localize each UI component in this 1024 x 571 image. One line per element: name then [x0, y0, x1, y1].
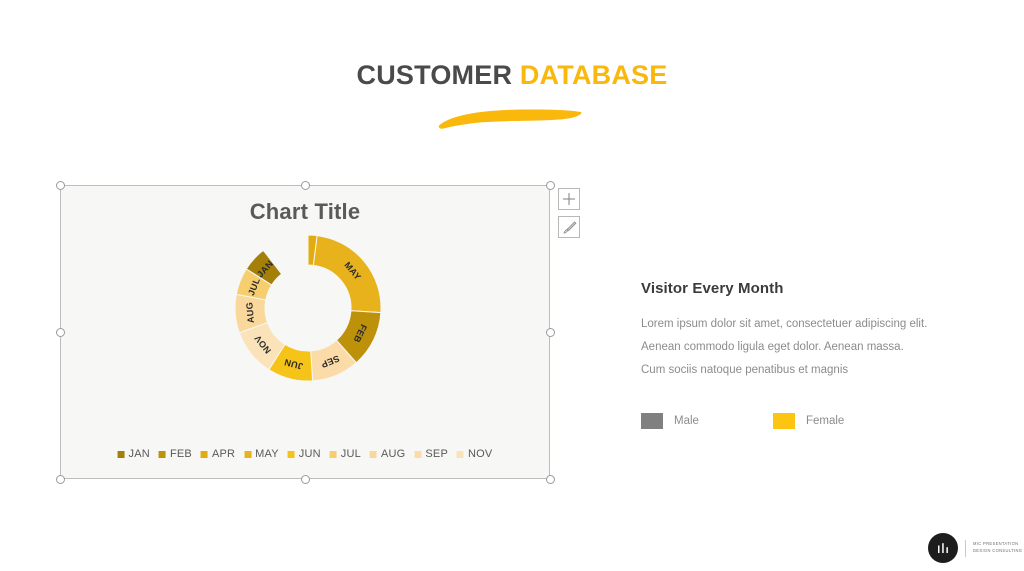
legend-swatch-icon [244, 451, 251, 458]
chart-legend-item-jan[interactable]: JAN [118, 448, 150, 460]
chart-legend-label: MAY [255, 448, 279, 460]
gender-legend-item-male: Male [641, 413, 699, 429]
selection-handle-bottom-center[interactable] [301, 475, 310, 484]
legend-swatch-icon [370, 451, 377, 458]
chart-legend-item-jun[interactable]: JUN [288, 448, 321, 460]
legend-swatch-icon [201, 451, 208, 458]
chart-legend-label: FEB [170, 448, 192, 460]
gender-legend: MaleFemale [641, 413, 931, 429]
chart-styles-button[interactable] [558, 216, 580, 238]
selection-handle-middle-right[interactable] [546, 328, 555, 337]
slice-label-aug: AUG [244, 302, 256, 324]
chart-legend-item-may[interactable]: MAY [244, 448, 279, 460]
gender-legend-label: Female [806, 415, 844, 427]
logo-bars-icon [936, 542, 950, 555]
chart-legend-label: JAN [129, 448, 150, 460]
gender-legend-item-female: Female [773, 413, 844, 429]
legend-swatch-icon [118, 451, 125, 458]
chart-title[interactable]: Chart Title [61, 199, 549, 225]
legend-swatch-icon [288, 451, 295, 458]
chart-legend-label: SEP [425, 448, 448, 460]
gender-swatch-icon [641, 413, 663, 429]
paintbrush-icon [562, 220, 577, 235]
selection-handle-middle-left[interactable] [56, 328, 65, 337]
panel-body: Lorem ipsum dolor sit amet, consectetuer… [641, 313, 931, 382]
chart-elements-button[interactable] [558, 188, 580, 210]
logo-text-line-2: DESIGN CONSULTING [973, 548, 1022, 555]
selection-handle-bottom-left[interactable] [56, 475, 65, 484]
chart-legend-label: AUG [381, 448, 405, 460]
selection-handle-top-center[interactable] [301, 181, 310, 190]
doughnut-slices[interactable] [235, 235, 381, 381]
page-title-part-1: CUSTOMER [357, 60, 513, 90]
gender-legend-label: Male [674, 415, 699, 427]
chart-object[interactable]: Chart Title MAYFEBSEPJUNNOVAUGJULJAN JAN… [60, 185, 550, 479]
page-title-part-2: DATABASE [520, 60, 668, 90]
plus-icon [562, 192, 576, 206]
legend-swatch-icon [330, 451, 337, 458]
chart-legend-label: NOV [468, 448, 492, 460]
gender-swatch-icon [773, 413, 795, 429]
footer-logo: MIC PRESENTATION DESIGN CONSULTING [928, 533, 1022, 563]
panel-heading: Visitor Every Month [641, 280, 931, 297]
chart-legend[interactable]: JANFEBAPRMAYJUNJULAUGSEPNOV [118, 448, 493, 460]
title-brush-underline-icon [437, 107, 583, 131]
chart-legend-item-apr[interactable]: APR [201, 448, 235, 460]
selection-handle-top-right[interactable] [546, 181, 555, 190]
logo-divider [965, 540, 966, 557]
logo-text: MIC PRESENTATION DESIGN CONSULTING [973, 541, 1022, 555]
chart-legend-item-aug[interactable]: AUG [370, 448, 405, 460]
logo-mark-icon [928, 533, 958, 563]
info-panel: Visitor Every Month Lorem ipsum dolor si… [641, 280, 931, 429]
legend-swatch-icon [414, 451, 421, 458]
legend-swatch-icon [457, 451, 464, 458]
doughnut-chart[interactable]: MAYFEBSEPJUNNOVAUGJULJAN [233, 233, 383, 383]
chart-legend-label: JUN [299, 448, 321, 460]
chart-side-buttons[interactable] [558, 188, 580, 238]
chart-legend-item-sep[interactable]: SEP [414, 448, 448, 460]
chart-legend-item-feb[interactable]: FEB [159, 448, 192, 460]
chart-legend-label: JUL [341, 448, 361, 460]
doughnut-slice-may[interactable] [313, 236, 381, 313]
selection-handle-bottom-right[interactable] [546, 475, 555, 484]
selection-handle-top-left[interactable] [56, 181, 65, 190]
logo-text-line-1: MIC PRESENTATION [973, 541, 1022, 548]
chart-legend-item-nov[interactable]: NOV [457, 448, 492, 460]
chart-legend-label: APR [212, 448, 235, 460]
chart-legend-item-jul[interactable]: JUL [330, 448, 361, 460]
legend-swatch-icon [159, 451, 166, 458]
page-title: CUSTOMER DATABASE [0, 60, 1024, 91]
